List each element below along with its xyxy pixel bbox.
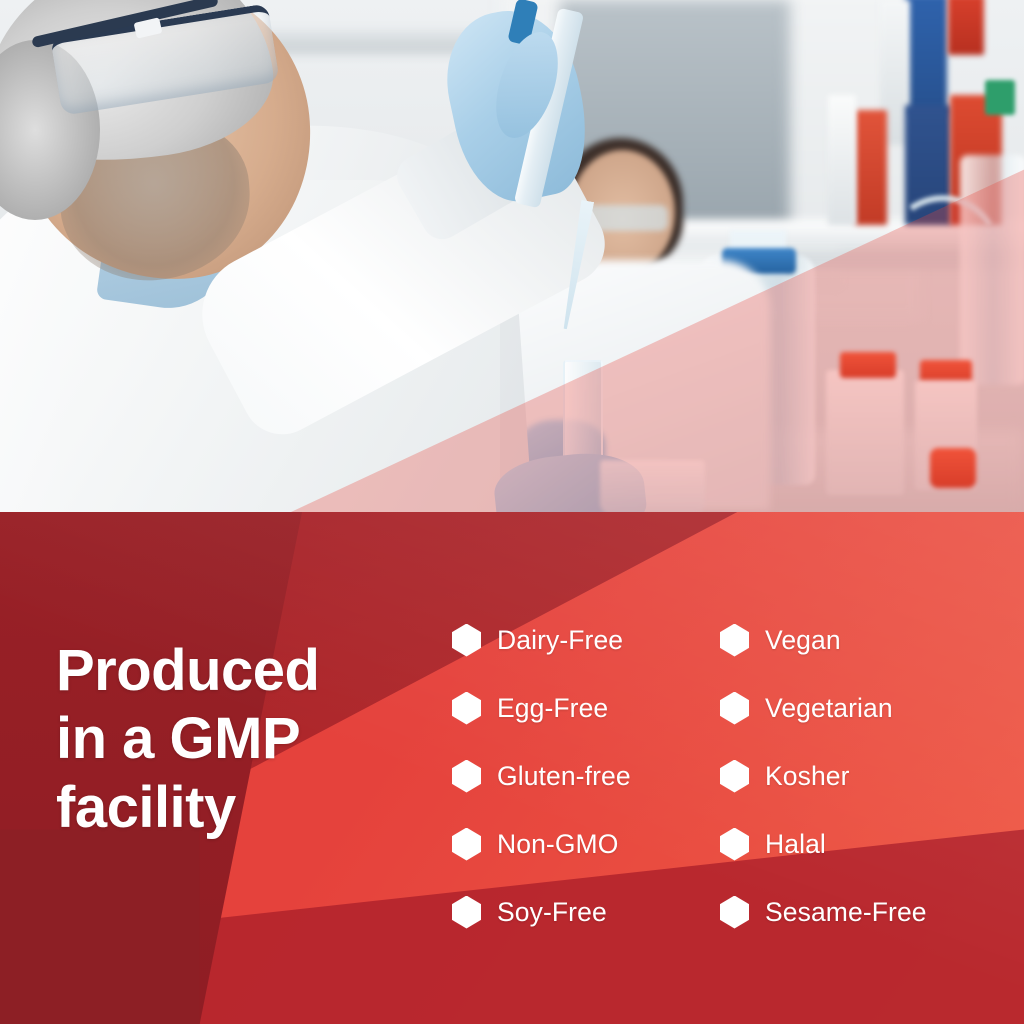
badge-label: Soy-Free (497, 897, 607, 928)
badge-soy-free: Soy-Free (452, 896, 720, 929)
laboratory-photo (0, 0, 1024, 514)
reagent-box-white-2 (828, 95, 856, 225)
page-title: Produced in a GMP facility (56, 637, 426, 842)
badge-vegan: Vegan (720, 624, 1012, 657)
badge-label: Dairy-Free (497, 625, 623, 656)
badge-sesame-free: Sesame-Free (720, 896, 1012, 929)
hexagon-bullet-icon (452, 692, 481, 725)
green-cap-bottle (985, 80, 1015, 115)
badge-label: Vegan (765, 625, 841, 656)
certification-badge-grid: Dairy-Free Vegan Egg-Free Vegetarian Glu… (452, 606, 1012, 946)
hexagon-bullet-icon (452, 828, 481, 861)
badge-egg-free: Egg-Free (452, 692, 720, 725)
hexagon-bullet-icon (720, 896, 749, 929)
headline-line-2: in a GMP (56, 705, 426, 773)
badge-label: Vegetarian (765, 693, 893, 724)
badge-label: Halal (765, 829, 826, 860)
hexagon-bullet-icon (720, 624, 749, 657)
hexagon-bullet-icon (452, 896, 481, 929)
badge-gluten-free: Gluten-free (452, 760, 720, 793)
badge-halal: Halal (720, 828, 1012, 861)
promo-banner-image: Produced in a GMP facility Dairy-Free Ve… (0, 0, 1024, 1024)
hexagon-bullet-icon (720, 828, 749, 861)
headline-line-3: facility (56, 774, 426, 842)
reagent-box-blue-1 (905, 0, 947, 115)
badge-label: Sesame-Free (765, 897, 927, 928)
badge-non-gmo: Non-GMO (452, 828, 720, 861)
reagent-box-red-2 (855, 110, 887, 225)
badge-dairy-free: Dairy-Free (452, 624, 720, 657)
badge-kosher: Kosher (720, 760, 1012, 793)
hexagon-bullet-icon (452, 624, 481, 657)
badge-label: Gluten-free (497, 761, 631, 792)
reagent-box-red-1 (948, 0, 984, 55)
badge-label: Non-GMO (497, 829, 618, 860)
badge-label: Kosher (765, 761, 850, 792)
badge-vegetarian: Vegetarian (720, 692, 1012, 725)
badge-label: Egg-Free (497, 693, 608, 724)
hexagon-bullet-icon (720, 760, 749, 793)
hexagon-bullet-icon (720, 692, 749, 725)
headline-line-1: Produced (56, 637, 426, 705)
hexagon-bullet-icon (452, 760, 481, 793)
